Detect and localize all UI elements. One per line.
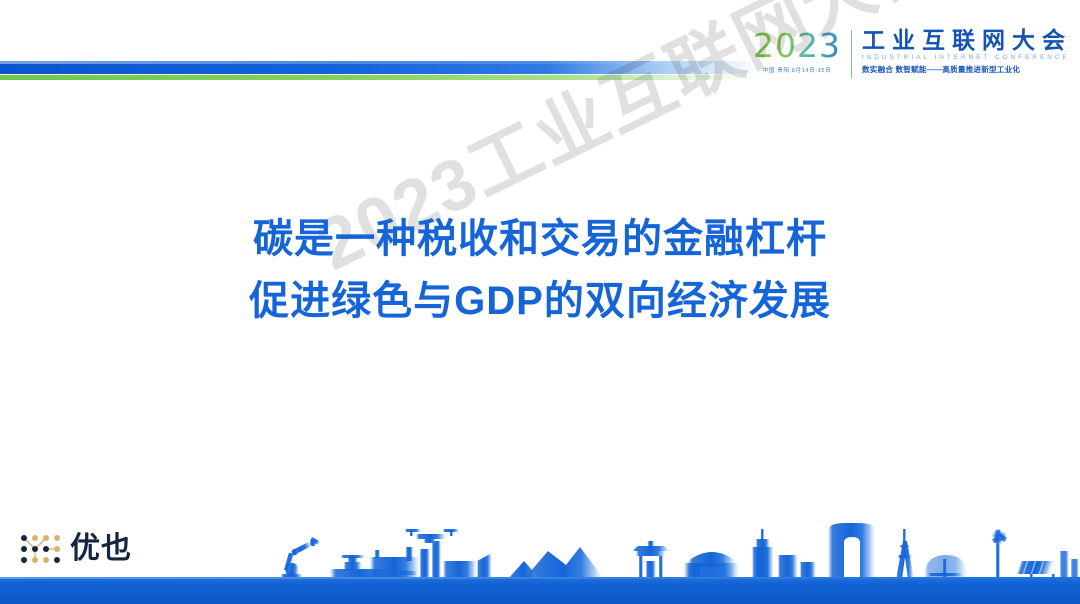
- top-bar-green-stripe: [0, 75, 760, 80]
- page-title: 碳是一种税收和交易的金融杠杆 促进绿色与GDP的双向经济发展: [0, 208, 1080, 332]
- factory-icon: [370, 541, 492, 579]
- conference-logo-divider: [851, 30, 852, 78]
- stadium-icon: [684, 552, 740, 579]
- conference-logo-year: 2023: [753, 29, 841, 62]
- conference-slogan: 数实融合 数智赋能——高质量推进新型工业化: [862, 64, 1072, 75]
- slide-canvas: 2023 中国 贵阳 8月14日-15日 工业互联网大会 INDUSTRIAL …: [0, 0, 1080, 604]
- dot-matrix-icon: [18, 532, 64, 566]
- eiffel-tower-icon: [896, 529, 914, 579]
- mountain-icon: [508, 547, 604, 579]
- title-line-2: 促进绿色与GDP的双向经济发展: [0, 270, 1080, 332]
- conference-logo-year-block: 2023 中国 贵阳 8月14日-15日: [753, 29, 851, 74]
- gate-of-the-orient-arch-icon: [828, 523, 876, 579]
- city-skyscrapers-icon: [1060, 551, 1079, 579]
- youye-brand-name: 优也: [70, 534, 132, 564]
- tower-building-icon: [752, 529, 816, 579]
- conference-logo-name-block: 工业互联网大会 INDUSTRIAL INTERNET CONFERENCE 数…: [852, 28, 1072, 75]
- pipeline-valve-icon: [330, 555, 418, 579]
- title-line-1: 碳是一种税收和交易的金融杠杆: [0, 208, 1080, 270]
- robot-arm-icon: [281, 537, 320, 579]
- bottom-blue-band: [0, 577, 1080, 604]
- pagoda-icon: [632, 541, 670, 579]
- conference-logo: 2023 中国 贵阳 8月14日-15日 工业互联网大会 INDUSTRIAL …: [753, 28, 1072, 84]
- youye-brand-logo: 优也: [18, 529, 132, 569]
- skyline-illustration: [0, 517, 1080, 579]
- radio-telescope-icon: [924, 555, 968, 579]
- skyline-shapes: [281, 523, 1055, 579]
- top-decorative-bar: [0, 61, 760, 81]
- wind-turbine-icon: [991, 529, 1008, 579]
- conference-logo-date: 中国 贵阳 8月14日-15日: [763, 66, 832, 74]
- conference-name-cn: 工业互联网大会: [862, 28, 1072, 52]
- drone-icon: [405, 529, 459, 543]
- conference-name-en: INDUSTRIAL INTERNET CONFERENCE: [862, 54, 1072, 61]
- top-bar-blue-stripe: [0, 61, 760, 74]
